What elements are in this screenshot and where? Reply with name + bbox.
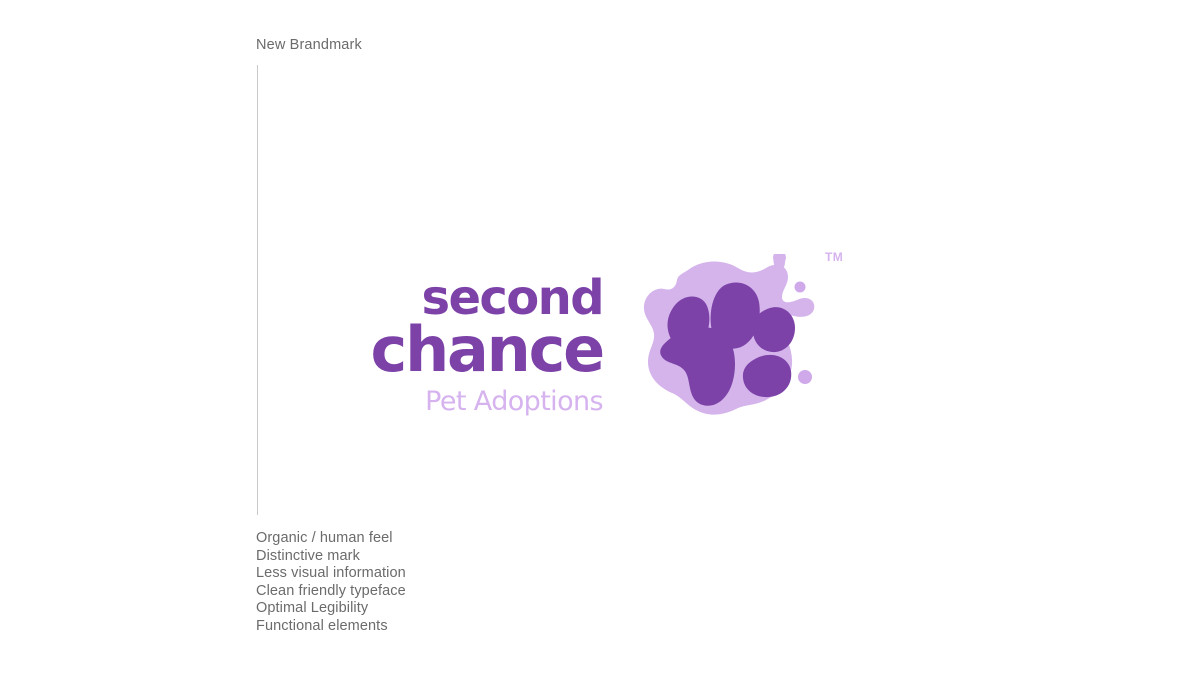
list-item: Distinctive mark: [256, 548, 406, 566]
page-title: New Brandmark: [256, 37, 362, 53]
logo-wordmark: second chance Pet Adoptions: [340, 240, 603, 430]
paw-blob-shapes: [644, 254, 814, 415]
brand-logo-lockup: second chance Pet Adoptions: [340, 240, 860, 430]
wordmark-tagline: Pet Adoptions: [425, 388, 603, 415]
splash-dot-top: [795, 282, 806, 293]
vertical-rule-divider: [257, 65, 258, 515]
splash-dot-bottom: [798, 370, 812, 384]
list-item: Functional elements: [256, 618, 406, 636]
list-item: Organic / human feel: [256, 530, 406, 548]
slide-canvas: New Brandmark Organic / human feel Disti…: [0, 0, 1200, 680]
trademark-symbol: TM: [825, 250, 843, 264]
feature-list: Organic / human feel Distinctive mark Le…: [256, 530, 406, 635]
list-item: Optimal Legibility: [256, 600, 406, 618]
list-item: Clean friendly typeface: [256, 583, 406, 601]
paw-blob-icon: [630, 254, 830, 429]
wordmark-line-chance: chance: [371, 319, 603, 381]
list-item: Less visual information: [256, 565, 406, 583]
